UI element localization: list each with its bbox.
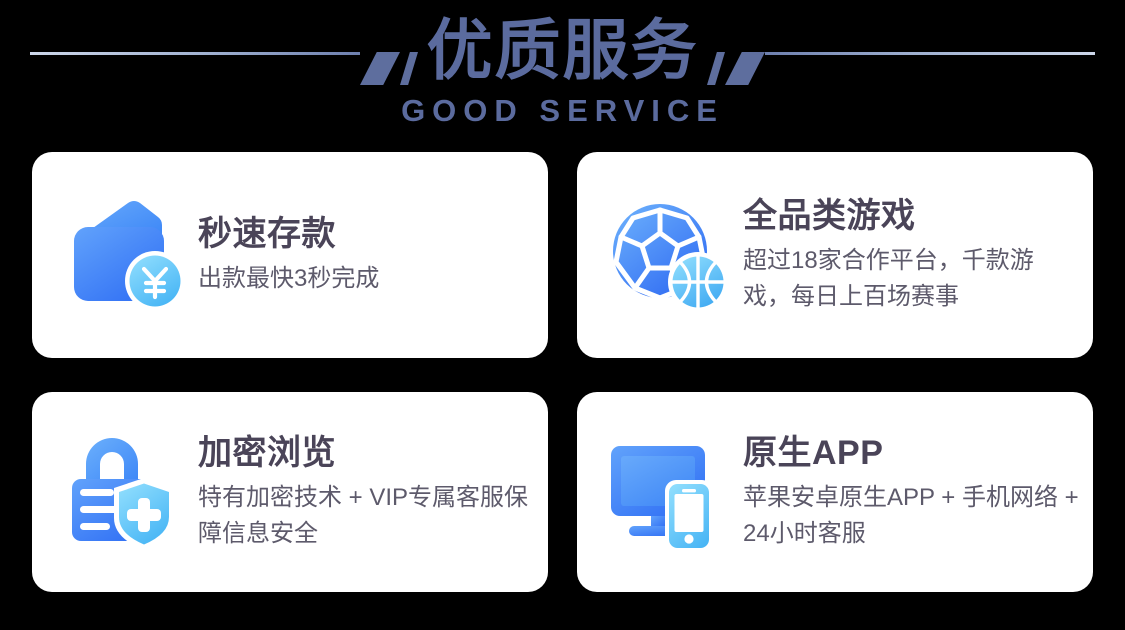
feature-card-deposit[interactable]: 秒速存款 出款最快3秒完成 xyxy=(32,152,548,358)
feature-card-encryption[interactable]: 加密浏览 特有加密技术 + VIP专属客服保障信息安全 xyxy=(32,392,548,592)
monitor-phone-icon xyxy=(603,426,735,558)
card-title: 全品类游戏 xyxy=(743,195,1079,237)
card-description: 超过18家合作平台，千款游戏，每日上百场赛事 xyxy=(743,237,1079,315)
card-text-block: 原生APP 苹果安卓原生APP + 手机网络 + 24小时客服 xyxy=(743,432,1093,552)
page-header: 优质服务 GOOD SERVICE xyxy=(0,0,1125,140)
page-title: 优质服务 xyxy=(0,0,1125,88)
feature-card-native-app[interactable]: 原生APP 苹果安卓原生APP + 手机网络 + 24小时客服 xyxy=(577,392,1093,592)
card-description: 苹果安卓原生APP + 手机网络 + 24小时客服 xyxy=(743,474,1079,552)
soccer-ball-icon xyxy=(603,189,735,321)
feature-card-games[interactable]: 全品类游戏 超过18家合作平台，千款游戏，每日上百场赛事 xyxy=(577,152,1093,358)
card-description: 出款最快3秒完成 xyxy=(198,255,534,297)
card-title: 加密浏览 xyxy=(198,432,534,474)
title-block: 优质服务 GOOD SERVICE xyxy=(0,0,1125,128)
card-title: 原生APP xyxy=(743,432,1079,474)
lock-shield-icon xyxy=(58,426,190,558)
card-text-block: 秒速存款 出款最快3秒完成 xyxy=(198,213,548,297)
wallet-icon xyxy=(58,189,190,321)
feature-card-grid: 秒速存款 出款最快3秒完成 xyxy=(32,152,1093,592)
card-description: 特有加密技术 + VIP专属客服保障信息安全 xyxy=(198,474,534,552)
card-title: 秒速存款 xyxy=(198,213,534,255)
card-text-block: 加密浏览 特有加密技术 + VIP专属客服保障信息安全 xyxy=(198,432,548,552)
page-subtitle: GOOD SERVICE xyxy=(0,88,1125,128)
card-text-block: 全品类游戏 超过18家合作平台，千款游戏，每日上百场赛事 xyxy=(743,195,1093,315)
